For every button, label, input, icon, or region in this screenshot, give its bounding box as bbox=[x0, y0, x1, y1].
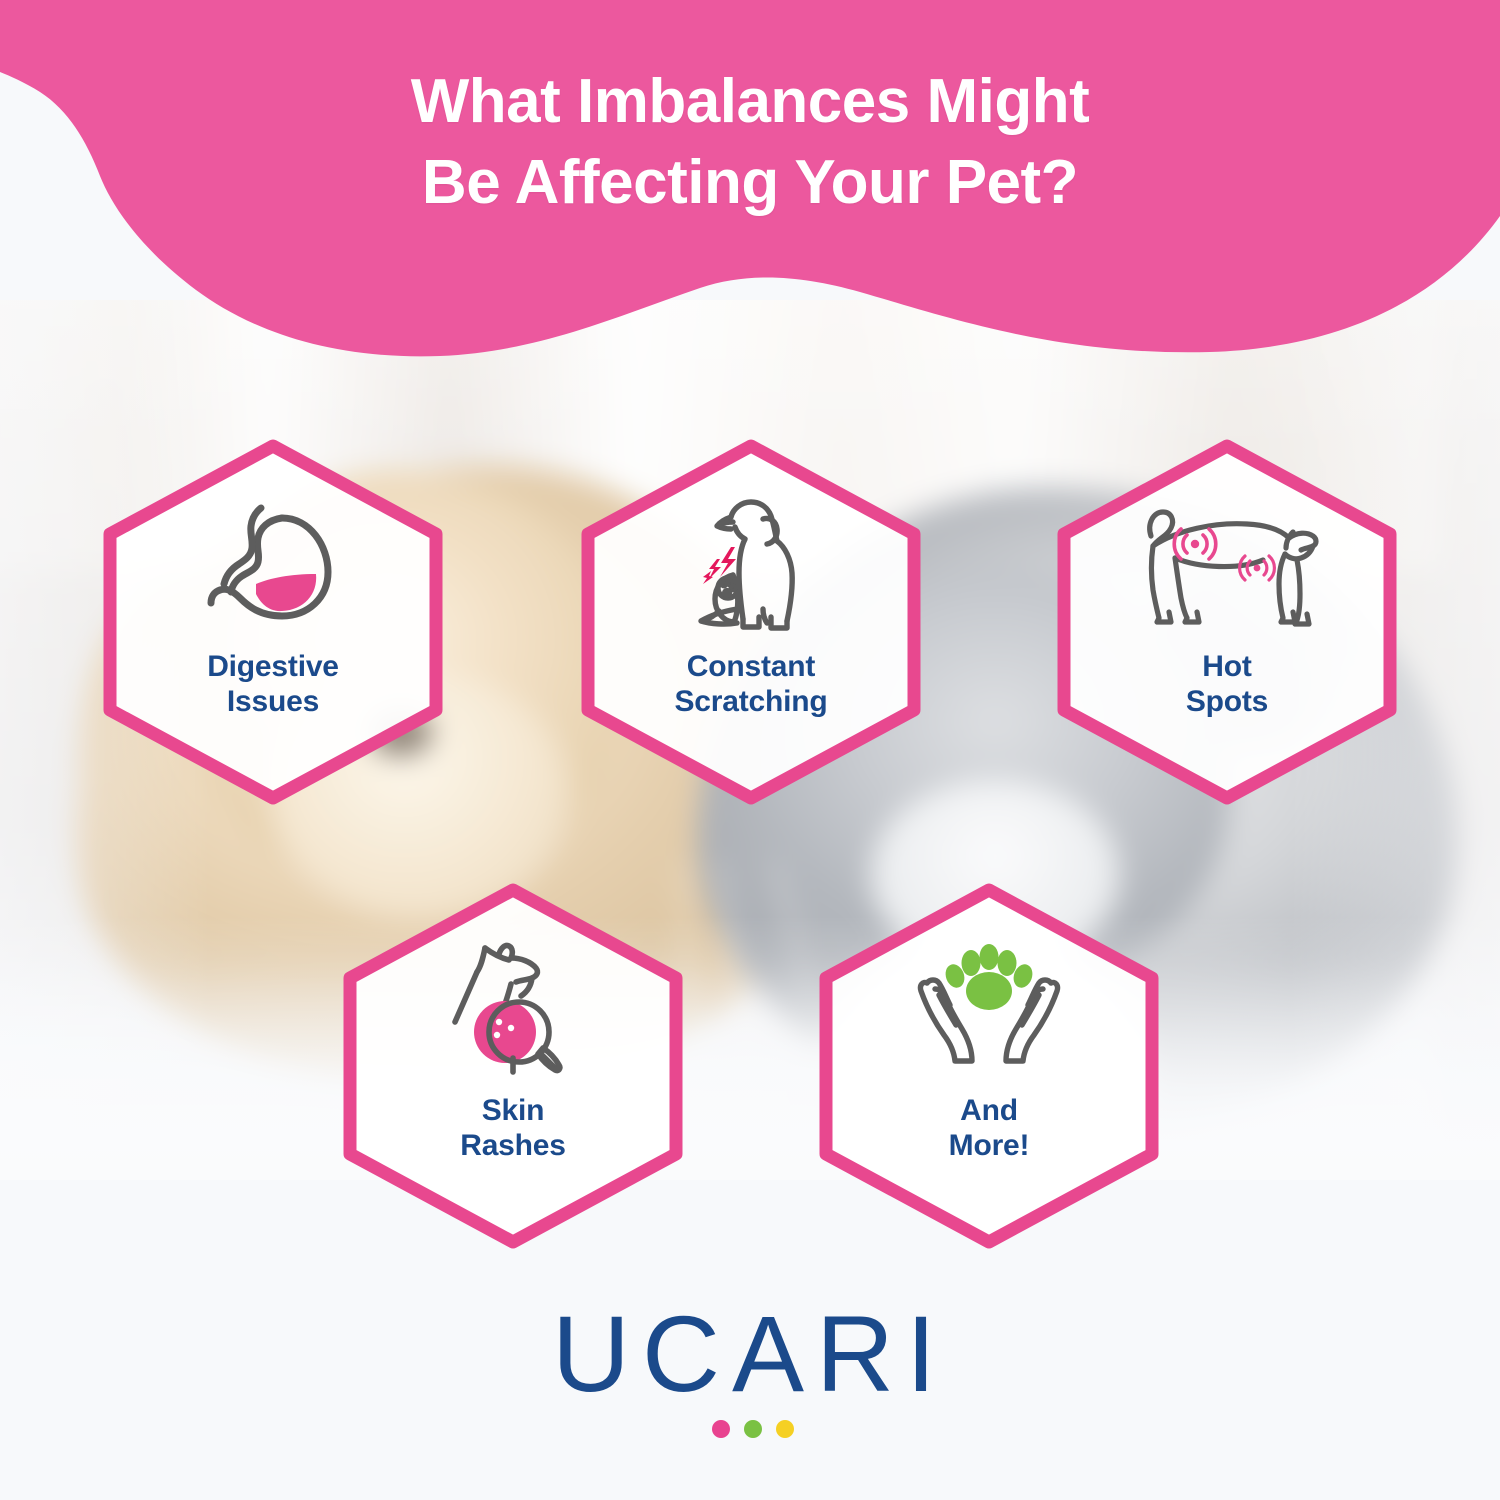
symptom-card-digestive-issues[interactable]: Digestive Issues bbox=[100, 436, 446, 808]
dot-pink-icon bbox=[712, 1420, 730, 1438]
hands-paw-icon bbox=[914, 936, 1064, 1078]
dot-yellow-icon bbox=[776, 1420, 794, 1438]
symptom-label: Hot Spots bbox=[1077, 650, 1377, 720]
brand-logo: UCARI bbox=[0, 1300, 1500, 1438]
symptom-label-line-2: Rashes bbox=[363, 1129, 663, 1164]
symptom-label-line-2: Scratching bbox=[601, 685, 901, 720]
symptom-label: And More! bbox=[839, 1094, 1139, 1164]
brand-wordmark: UCARI bbox=[0, 1300, 1500, 1408]
dog-magnifier-rash-icon bbox=[443, 936, 583, 1078]
symptom-label-line-1: Digestive bbox=[207, 650, 339, 683]
symptom-label-line-1: Hot bbox=[1202, 650, 1251, 683]
symptom-label-line-1: Skin bbox=[482, 1094, 545, 1127]
symptom-label: Skin Rashes bbox=[363, 1094, 663, 1164]
poster-canvas: What Imbalances Might Be Affecting Your … bbox=[0, 0, 1500, 1500]
symptom-card-hot-spots[interactable]: Hot Spots bbox=[1054, 436, 1400, 808]
stomach-icon bbox=[198, 492, 348, 634]
symptom-label-line-2: More! bbox=[839, 1129, 1139, 1164]
brand-logo-dots bbox=[0, 1420, 1500, 1438]
symptom-label-line-1: Constant bbox=[687, 650, 815, 683]
symptom-card-and-more[interactable]: And More! bbox=[816, 880, 1162, 1252]
symptom-hexagon-grid: Digestive Issues bbox=[0, 0, 1500, 1500]
symptom-card-skin-rashes[interactable]: Skin Rashes bbox=[340, 880, 686, 1252]
symptom-card-constant-scratching[interactable]: Constant Scratching bbox=[578, 436, 924, 808]
dog-hotspots-icon bbox=[1129, 492, 1325, 634]
symptom-label-line-2: Issues bbox=[123, 685, 423, 720]
symptom-label: Constant Scratching bbox=[601, 650, 901, 720]
symptom-label-line-2: Spots bbox=[1077, 685, 1377, 720]
page-title-line-1: What Imbalances Might bbox=[411, 67, 1089, 136]
page-title-line-2: Be Affecting Your Pet? bbox=[0, 143, 1500, 224]
dog-scratching-icon bbox=[675, 492, 827, 634]
dot-green-icon bbox=[744, 1420, 762, 1438]
page-title: What Imbalances Might Be Affecting Your … bbox=[0, 62, 1500, 223]
symptom-label: Digestive Issues bbox=[123, 650, 423, 720]
symptom-label-line-1: And bbox=[960, 1094, 1018, 1127]
